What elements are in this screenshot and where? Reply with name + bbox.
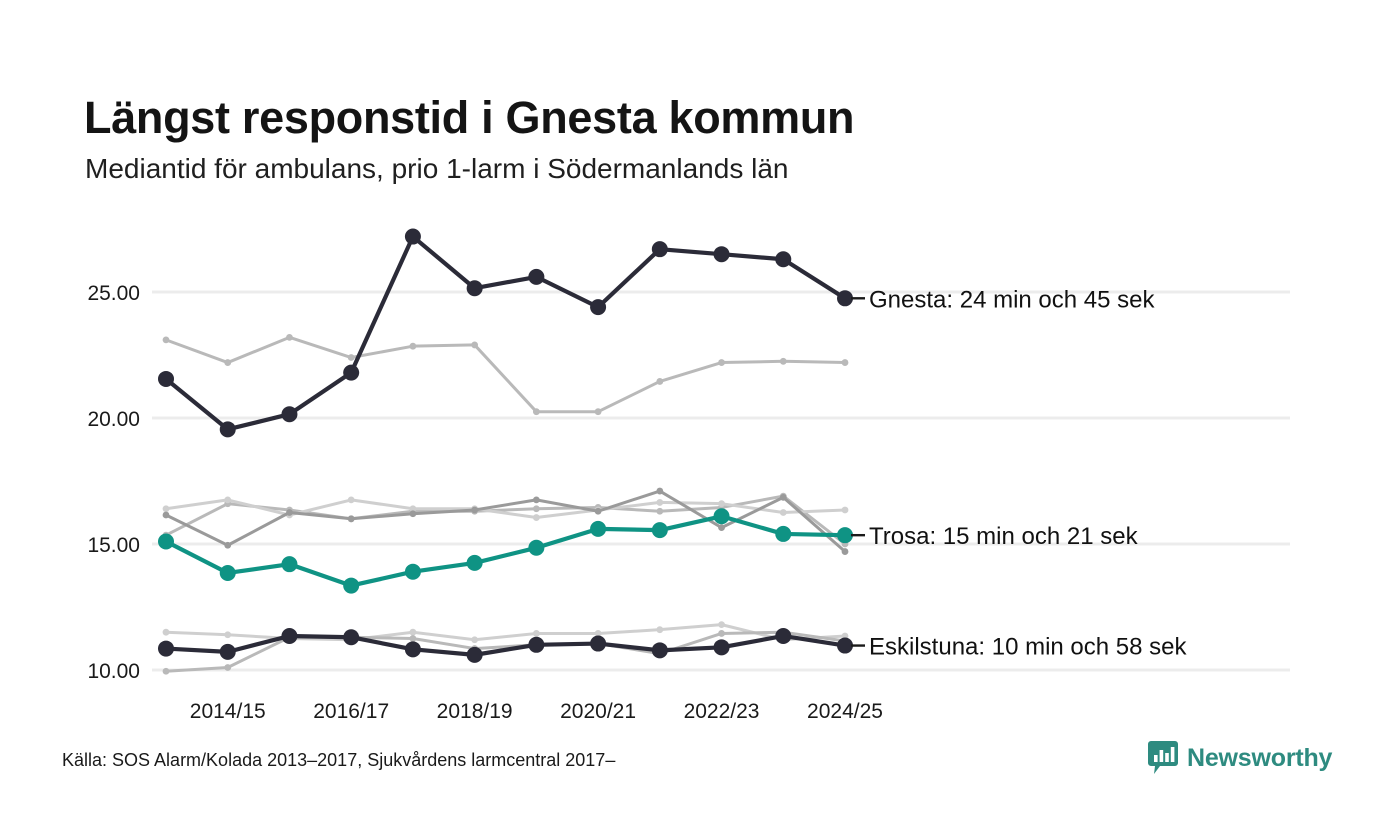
- chart-page: Längst responstid i Gnesta kommun Median…: [0, 0, 1400, 840]
- data-point: [467, 280, 483, 296]
- data-point: [163, 668, 170, 675]
- data-point: [528, 637, 544, 653]
- data-point: [286, 334, 293, 341]
- data-point: [780, 494, 787, 501]
- data-point: [220, 565, 236, 581]
- data-point: [590, 521, 606, 537]
- data-point: [775, 526, 791, 542]
- series-line: [166, 496, 845, 544]
- data-point: [405, 564, 421, 580]
- data-point: [286, 509, 293, 516]
- data-point: [224, 359, 231, 366]
- series-label-eskilstuna: Eskilstuna: 10 min och 58 sek: [869, 634, 1187, 661]
- data-point: [656, 378, 663, 385]
- logo-text: Newsworthy: [1187, 744, 1332, 773]
- series-context-mid-a: [163, 493, 849, 548]
- data-point: [158, 533, 174, 549]
- data-point: [714, 639, 730, 655]
- data-point: [220, 421, 236, 437]
- data-point: [471, 342, 478, 349]
- series-label-trosa: Trosa: 15 min och 21 sek: [869, 523, 1139, 550]
- data-point: [775, 251, 791, 267]
- data-point: [343, 629, 359, 645]
- data-point: [656, 508, 663, 515]
- data-point: [281, 628, 297, 644]
- data-point: [714, 246, 730, 262]
- x-axis-tick-label: 2022/23: [684, 700, 760, 723]
- series-context-upper-a: [163, 334, 849, 415]
- data-point: [595, 408, 602, 415]
- data-point: [343, 365, 359, 381]
- x-axis-tick-label: 2020/21: [560, 700, 636, 723]
- data-point: [718, 630, 725, 637]
- data-point: [718, 621, 725, 628]
- data-point: [837, 638, 853, 654]
- data-point: [410, 510, 417, 517]
- y-axis-tick-label: 15.00: [87, 534, 140, 557]
- data-point: [410, 629, 417, 636]
- source-note: Källa: SOS Alarm/Kolada 2013–2017, Sjukv…: [62, 750, 615, 771]
- data-point: [281, 406, 297, 422]
- data-point: [718, 524, 725, 531]
- data-point: [220, 644, 236, 660]
- x-axis-tick-label: 2016/17: [313, 700, 389, 723]
- chart-svg: Gnesta: 24 min och 45 sekTrosa: 15 min o…: [0, 0, 1400, 840]
- y-axis-tick-label: 10.00: [87, 660, 140, 683]
- data-point: [656, 626, 663, 633]
- data-point: [405, 641, 421, 657]
- data-point: [652, 522, 668, 538]
- series-label-gnesta: Gnesta: 24 min och 45 sek: [869, 286, 1155, 313]
- data-point: [656, 488, 663, 495]
- data-point: [837, 527, 853, 543]
- data-point: [842, 359, 849, 366]
- data-point: [656, 499, 663, 506]
- series-line: [166, 516, 845, 585]
- data-point: [652, 642, 668, 658]
- data-point: [590, 299, 606, 315]
- series-Trosa: [158, 508, 853, 593]
- data-point: [467, 647, 483, 663]
- data-point: [842, 507, 849, 514]
- data-point: [714, 508, 730, 524]
- data-point: [343, 578, 359, 594]
- data-point: [163, 336, 170, 343]
- newsworthy-logo: Newsworthy: [1148, 741, 1332, 775]
- data-point: [595, 508, 602, 515]
- data-point: [224, 497, 231, 504]
- data-point: [718, 359, 725, 366]
- data-point: [775, 628, 791, 644]
- x-axis-tick-label: 2018/19: [437, 700, 513, 723]
- bar-chart-bubble-icon: [1148, 741, 1178, 775]
- data-point: [281, 556, 297, 572]
- data-point: [158, 371, 174, 387]
- data-point: [471, 507, 478, 514]
- line-chart: Gnesta: 24 min och 45 sekTrosa: 15 min o…: [0, 0, 1400, 840]
- data-point: [410, 343, 417, 350]
- data-point: [652, 241, 668, 257]
- series-Gnesta: [158, 229, 853, 438]
- data-point: [163, 629, 170, 636]
- data-point: [467, 555, 483, 571]
- data-point: [224, 664, 231, 671]
- x-axis-tick-label: 2014/15: [190, 700, 266, 723]
- data-point: [533, 514, 540, 521]
- data-point: [533, 497, 540, 504]
- data-point: [533, 408, 540, 415]
- data-point: [842, 548, 849, 555]
- y-axis-tick-label: 25.00: [87, 282, 140, 305]
- data-point: [163, 512, 170, 519]
- series-line: [166, 337, 845, 411]
- data-point: [533, 630, 540, 637]
- data-point: [528, 540, 544, 556]
- data-point: [837, 290, 853, 306]
- data-point: [410, 635, 417, 642]
- data-point: [533, 505, 540, 512]
- data-point: [348, 497, 355, 504]
- data-point: [163, 505, 170, 512]
- data-point: [224, 542, 231, 549]
- data-point: [780, 509, 787, 516]
- data-point: [718, 500, 725, 507]
- data-point: [780, 358, 787, 365]
- data-point: [158, 641, 174, 657]
- data-point: [224, 631, 231, 638]
- y-axis-tick-label: 20.00: [87, 408, 140, 431]
- data-point: [528, 269, 544, 285]
- data-point: [348, 515, 355, 522]
- data-point: [348, 354, 355, 361]
- x-axis-tick-label: 2024/25: [807, 700, 883, 723]
- data-point: [590, 636, 606, 652]
- data-point: [471, 636, 478, 643]
- data-point: [405, 229, 421, 245]
- series-line: [166, 237, 845, 430]
